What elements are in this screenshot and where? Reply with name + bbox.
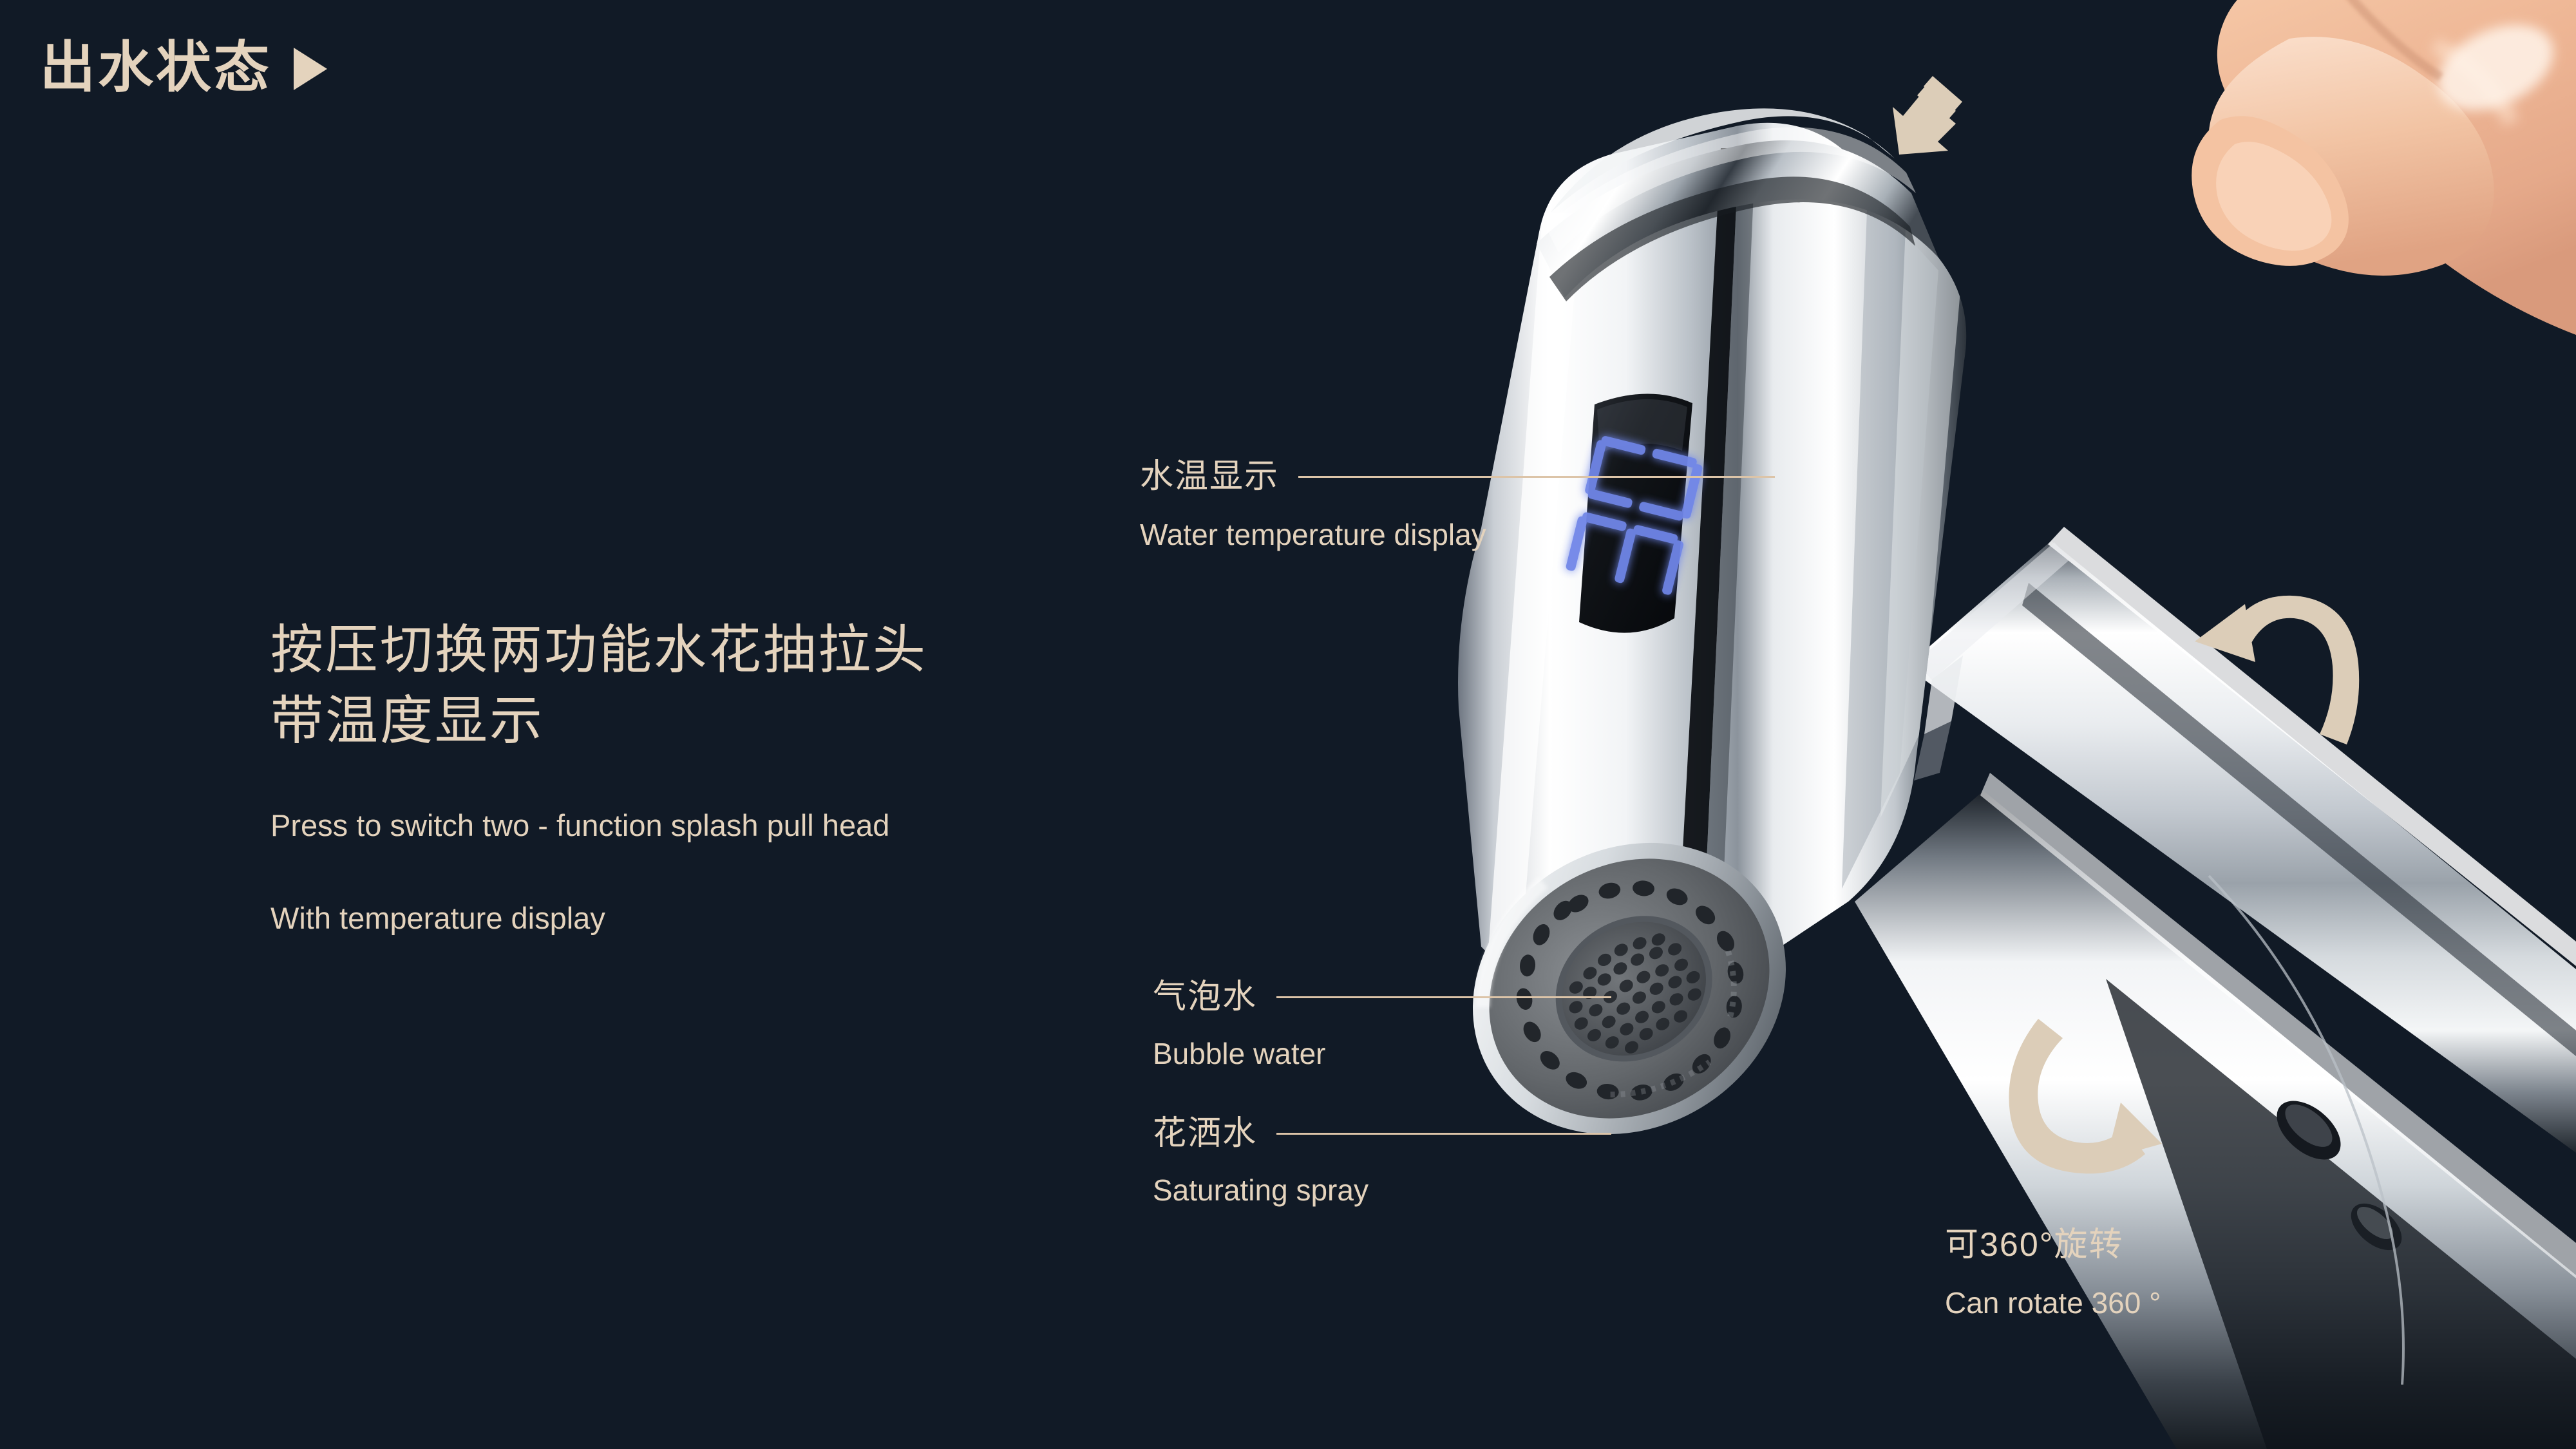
play-triangle-icon [294,48,327,90]
callout-saturating-spray: 花洒水 Saturating spray [1153,1115,1611,1207]
page-title: 出水状态 [40,40,272,95]
leader-line-temperature [1298,476,1775,478]
callout-rotate-360: 可360°旋转 Can rotate 360 ° [1945,1227,2161,1320]
leader-line-bubble [1276,996,1611,998]
infographic-canvas: 出水状态 按压切换两功能水花抽拉头 带温度显示 Press to switch … [0,0,2576,1449]
callout-temp-en: Water temperature display [1140,518,1775,551]
finger-pressing-icon [2192,0,2576,335]
callout-bubble-water: 气泡水 Bubble water [1153,979,1611,1070]
rotate-clockwise-arrow-icon [1993,1005,2186,1191]
feature-copy-block: 按压切换两功能水花抽拉头 带温度显示 Press to switch two -… [270,615,927,942]
callout-rotate-en: Can rotate 360 ° [1945,1287,2161,1320]
feature-cn-line-2: 带温度显示 [270,686,927,757]
callout-bubble-en: Bubble water [1153,1037,1611,1070]
rotate-counterclockwise-arrow-icon [2183,580,2376,760]
callout-rotate-cn: 可360°旋转 [1945,1227,2161,1264]
callout-water-temperature: 水温显示 Water temperature display [1140,459,1775,551]
leader-line-spray [1276,1133,1611,1135]
press-down-arrow-icon [1871,64,1987,161]
page-header: 出水状态 [40,40,327,95]
callout-spray-en: Saturating spray [1153,1174,1611,1207]
feature-cn-line-1: 按压切换两功能水花抽拉头 [270,615,927,686]
callout-bubble-cn: 气泡水 [1153,979,1257,1016]
callout-spray-cn: 花洒水 [1153,1115,1257,1152]
feature-en-line-1: Press to switch two - function splash pu… [270,802,927,849]
callout-temp-cn: 水温显示 [1140,459,1279,495]
feature-en-line-2: With temperature display [270,895,927,942]
